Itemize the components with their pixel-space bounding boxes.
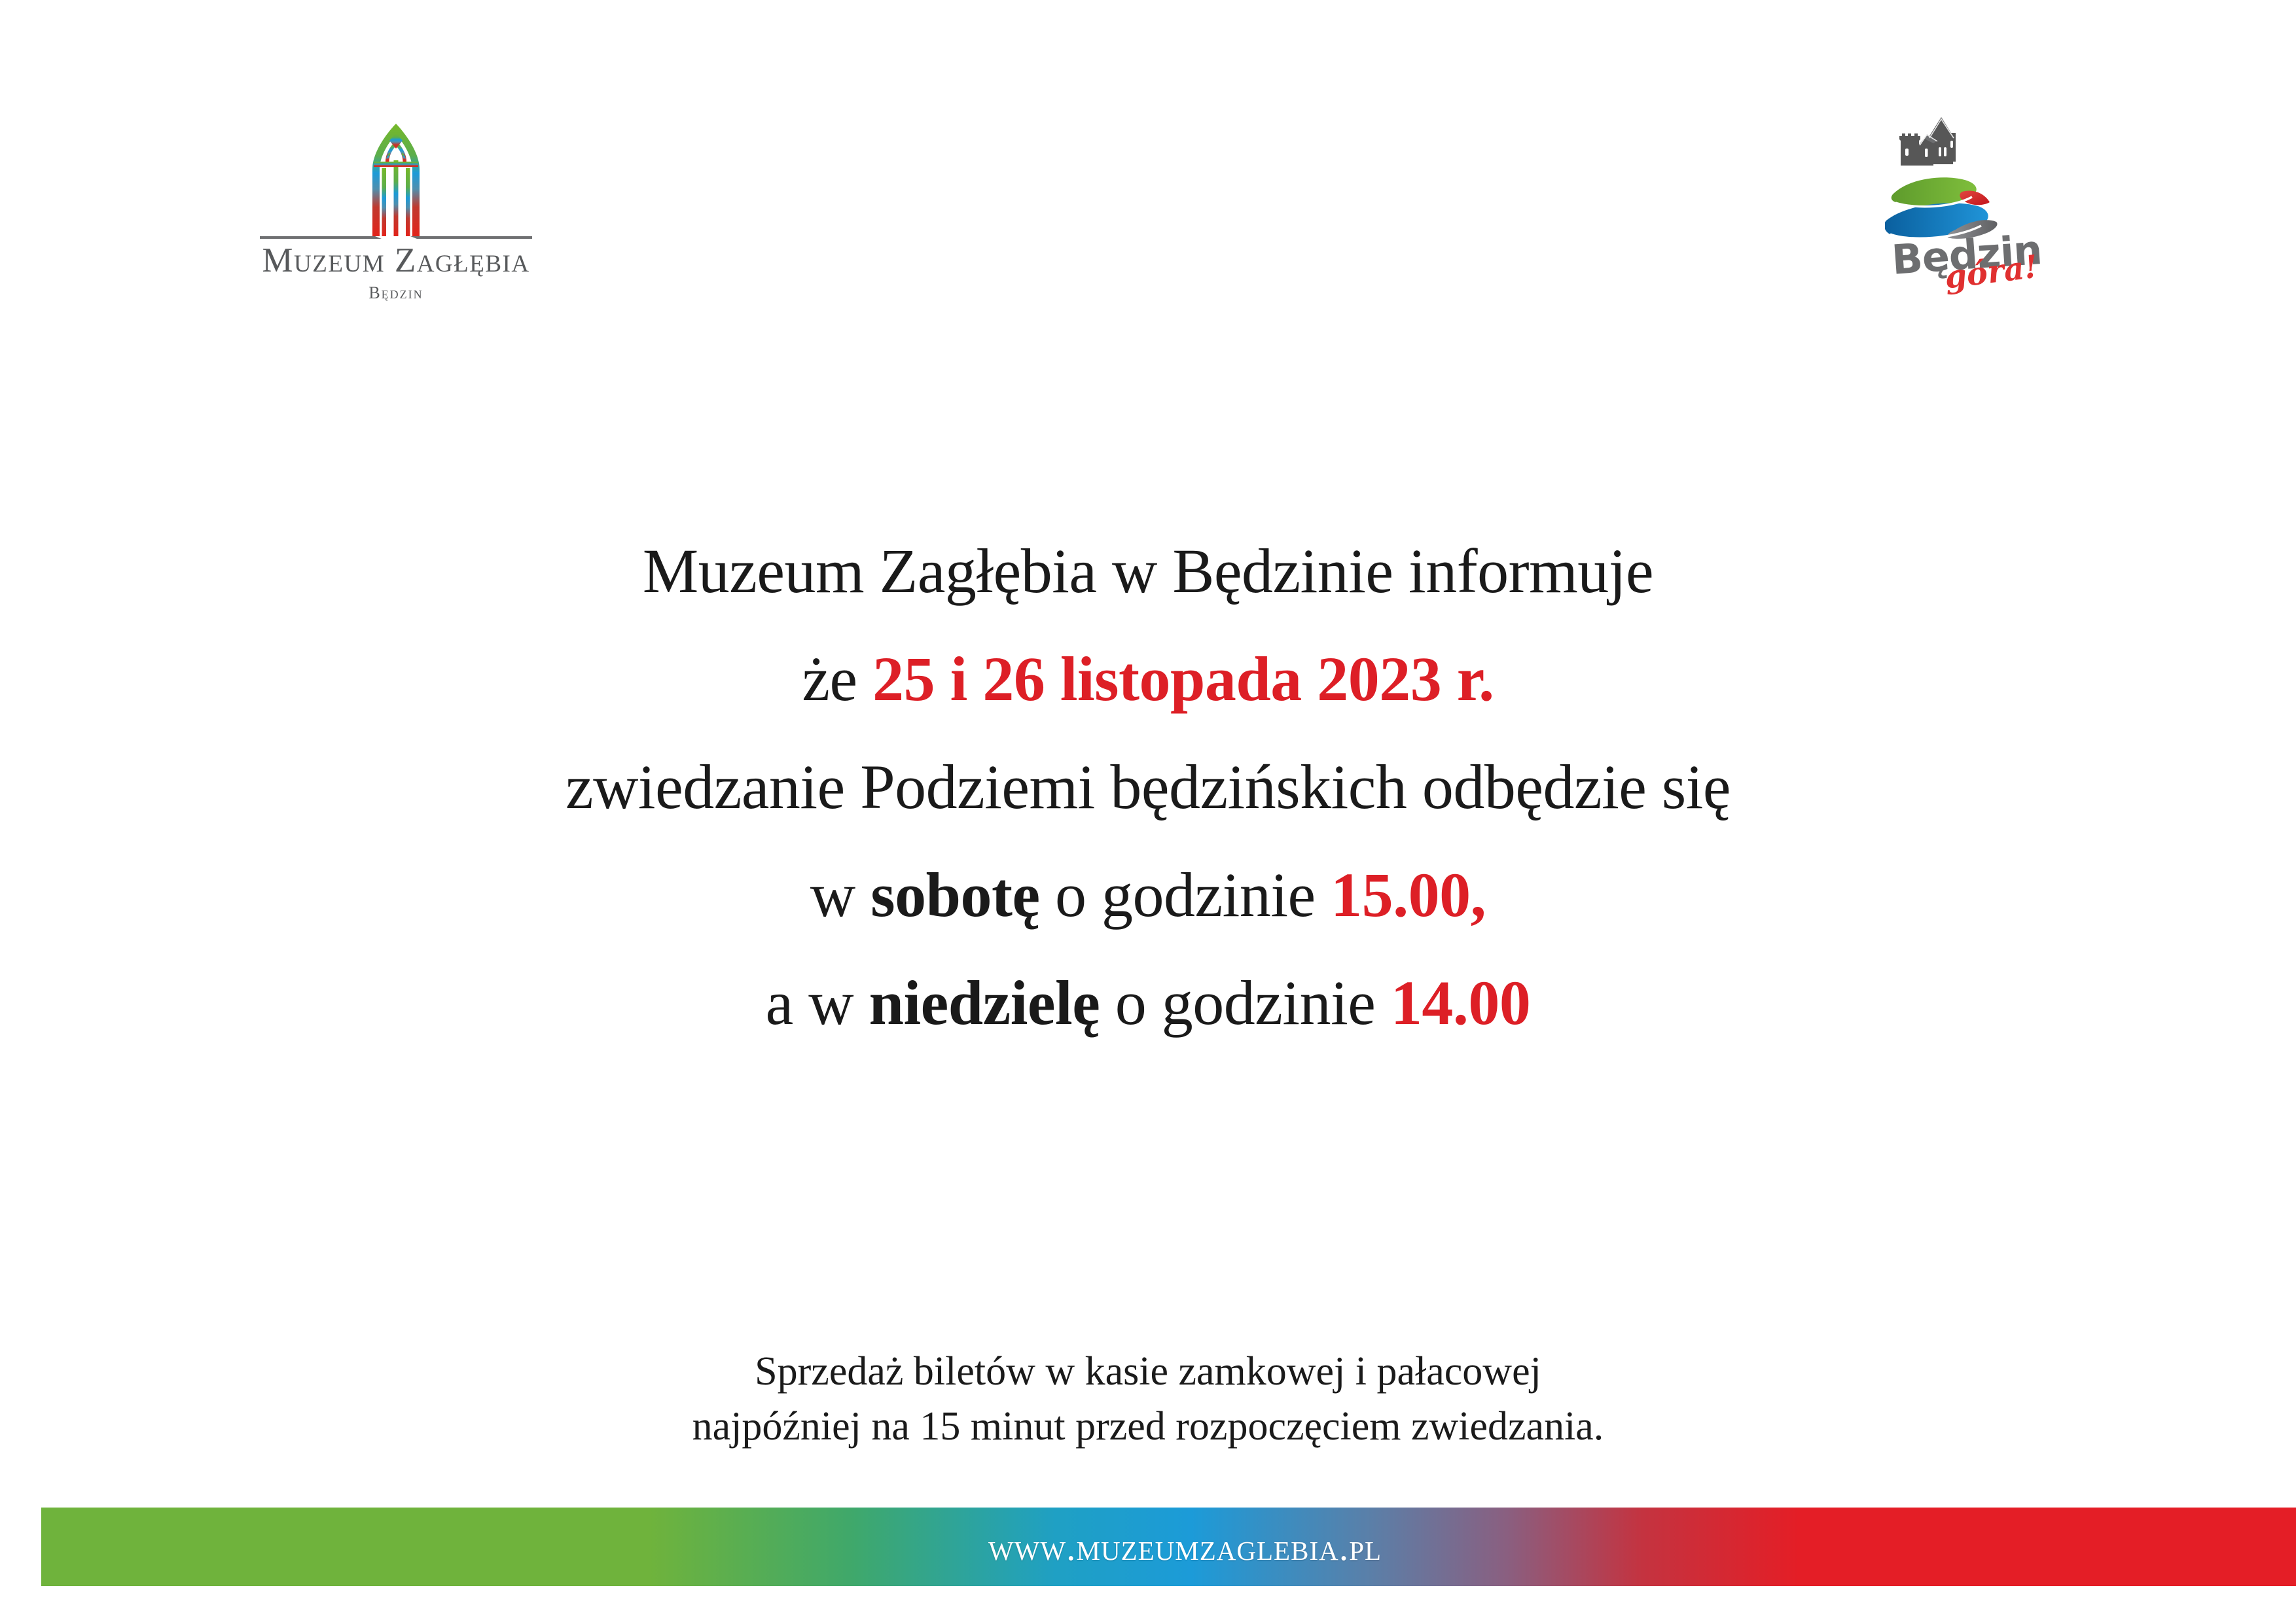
logo-divider-rules xyxy=(232,232,560,239)
website-url[interactable]: www.muzeumzaglebia.pl xyxy=(988,1525,1382,1569)
museum-logo: Muzeum Zagłębia Będzin xyxy=(232,121,560,301)
line4-prefix: w xyxy=(810,860,870,930)
sales-note-line-2: najpóźniej na 15 minut przed rozpoczęcie… xyxy=(0,1400,2296,1455)
ticket-sales-note: Sprzedaż biletów w kasie zamkowej i pała… xyxy=(0,1345,2296,1454)
line4-day: sobotę xyxy=(870,860,1039,930)
line4-time: 15.00, xyxy=(1331,860,1486,930)
line2-date: 25 i 26 listopada 2023 r. xyxy=(872,644,1494,714)
gothic-window-icon xyxy=(357,121,435,239)
footer-gradient-bar: www.muzeumzaglebia.pl xyxy=(41,1508,2296,1586)
museum-logo-wordmark: Muzeum Zagłębia xyxy=(232,243,560,279)
announcement-line-1: Muzeum Zagłębia w Będzinie informuje xyxy=(0,517,2296,625)
announcement-body: Muzeum Zagłębia w Będzinie informuje że … xyxy=(0,517,2296,1057)
line5-prefix: a w xyxy=(766,968,869,1038)
bedzin-city-logo: Będzin góra! xyxy=(1885,115,2081,291)
line5-day: niedzielę xyxy=(869,968,1100,1038)
announcement-line-4: w sobotę o godzinie 15.00, xyxy=(0,841,2296,949)
line2-prefix: że xyxy=(802,644,872,714)
announcement-line-5: a w niedzielę o godzinie 14.00 xyxy=(0,949,2296,1057)
announcement-line-3: zwiedzanie Podziemi będzińskich odbędzie… xyxy=(0,733,2296,841)
line4-middle: o godzinie xyxy=(1040,860,1331,930)
sales-note-line-1: Sprzedaż biletów w kasie zamkowej i pała… xyxy=(0,1345,2296,1400)
announcement-line-2: że 25 i 26 listopada 2023 r. xyxy=(0,625,2296,733)
line5-middle: o godzinie xyxy=(1100,968,1391,1038)
line5-time: 14.00 xyxy=(1391,968,1531,1038)
museum-logo-subwordmark: Będzin xyxy=(232,283,560,303)
